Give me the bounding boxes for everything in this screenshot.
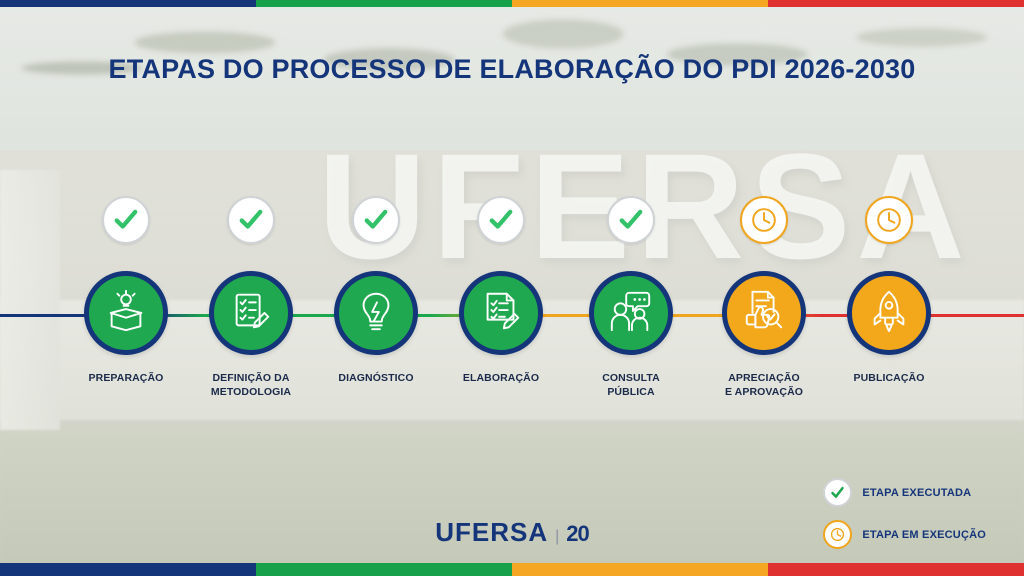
footer-separator: | xyxy=(555,528,559,546)
legend-item-executed: ETAPA EXECUTADA xyxy=(823,478,986,507)
step-label: CONSULTAPÚBLICA xyxy=(568,372,694,400)
step-label: DIAGNÓSTICO xyxy=(313,372,439,386)
timeline-step: PREPARAÇÃO xyxy=(63,196,189,386)
footer-brand: UFERSA xyxy=(435,517,548,547)
timeline-step: DEFINIÇÃO DAMETODOLOGIA xyxy=(188,196,314,400)
bottom-color-bar xyxy=(0,563,1024,576)
timeline-step: DIAGNÓSTICO xyxy=(313,196,439,386)
people-speech-icon xyxy=(608,288,654,339)
rocket-icon xyxy=(866,288,912,339)
clock-circle-icon xyxy=(740,196,788,244)
step-icon-circle[interactable] xyxy=(84,271,168,355)
footer-anniversary: 20 xyxy=(566,521,588,546)
check-circle-icon xyxy=(352,196,400,244)
timeline-step: PUBLICAÇÃO xyxy=(826,196,952,386)
step-icon-circle[interactable] xyxy=(589,271,673,355)
step-label: PUBLICAÇÃO xyxy=(826,372,952,386)
check-circle-icon xyxy=(823,478,852,507)
step-label: ELABORAÇÃO xyxy=(438,372,564,386)
checklist-pencil-icon xyxy=(228,288,274,339)
step-label: APRECIAÇÃOE APROVAÇÃO xyxy=(701,372,827,400)
step-label: DEFINIÇÃO DAMETODOLOGIA xyxy=(188,372,314,400)
check-circle-icon xyxy=(607,196,655,244)
step-label: PREPARAÇÃO xyxy=(63,372,189,386)
lightbulb-gear-icon xyxy=(353,288,399,339)
check-circle-icon xyxy=(227,196,275,244)
top-color-bar xyxy=(0,0,1024,7)
check-circle-icon xyxy=(102,196,150,244)
page-title: ETAPAS DO PROCESSO DE ELABORAÇÃO DO PDI … xyxy=(0,54,1024,85)
check-circle-icon xyxy=(477,196,525,244)
step-icon-circle[interactable] xyxy=(847,271,931,355)
document-magnifier-icon xyxy=(741,288,787,339)
legend-label-executed: ETAPA EXECUTADA xyxy=(862,487,971,499)
timeline-step: APRECIAÇÃOE APROVAÇÃO xyxy=(701,196,827,400)
timeline-step: CONSULTAPÚBLICA xyxy=(568,196,694,400)
step-icon-circle[interactable] xyxy=(334,271,418,355)
step-icon-circle[interactable] xyxy=(209,271,293,355)
step-icon-circle[interactable] xyxy=(722,271,806,355)
clock-circle-icon xyxy=(865,196,913,244)
document-pencil-icon xyxy=(478,288,524,339)
timeline-step: ELABORAÇÃO xyxy=(438,196,564,386)
step-icon-circle[interactable] xyxy=(459,271,543,355)
open-box-idea-icon xyxy=(103,288,149,339)
footer-logo: UFERSA|20 xyxy=(0,517,1024,548)
